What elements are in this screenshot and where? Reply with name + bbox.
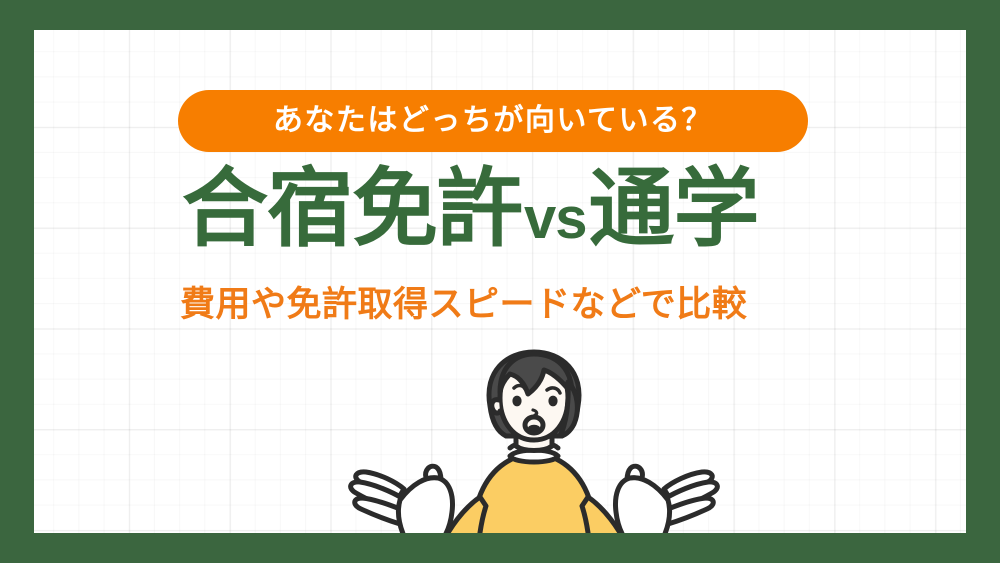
- title-part-vs: vs: [522, 190, 589, 248]
- page-title: 合宿免許 vs 通学: [182, 166, 759, 252]
- tagline-badge-label: あなたはどっちが向いている？: [273, 106, 713, 136]
- page-subtitle-label: 費用や免許取得スピードなどで比較: [180, 285, 747, 324]
- banner-canvas: あなたはどっちが向いている？ 合宿免許 vs 通学 費用や免許取得スピードなどで…: [0, 0, 1000, 563]
- shrugging-person-illustration: [304, 348, 764, 533]
- title-part-left: 合宿免許: [182, 166, 522, 252]
- tagline-badge: あなたはどっちが向いている？: [178, 90, 808, 152]
- page-subtitle: 費用や免許取得スピードなどで比較: [180, 285, 747, 325]
- title-part-right: 通学: [589, 166, 759, 252]
- grid-panel: あなたはどっちが向いている？ 合宿免許 vs 通学 費用や免許取得スピードなどで…: [34, 30, 966, 533]
